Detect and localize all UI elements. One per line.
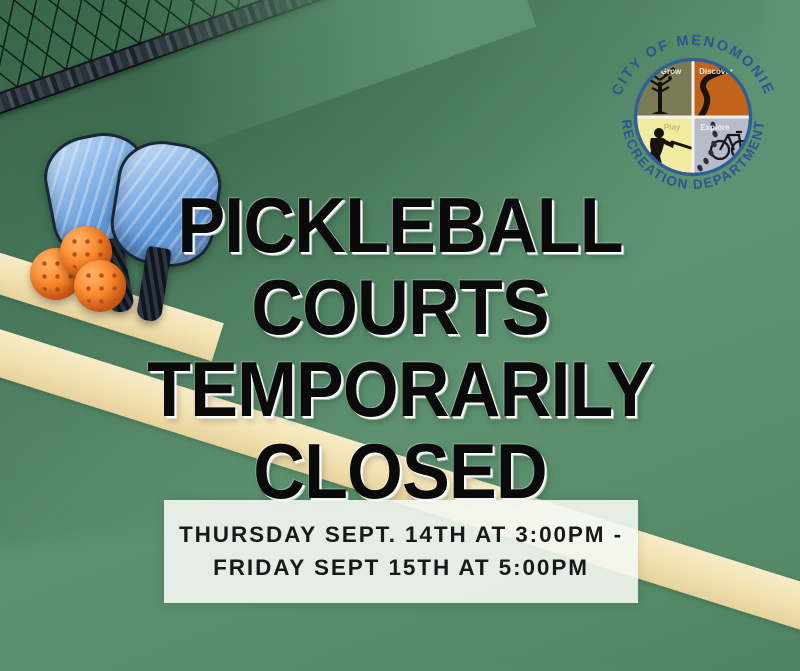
date-banner-line-1: THURSDAY SEPT. 14TH AT 3:00PM -: [179, 519, 623, 552]
logo-quadrants: [633, 57, 753, 177]
paddle-right: [105, 135, 227, 274]
logo-label-explore: Explore: [700, 123, 730, 132]
pickleball-gear-group: [26, 130, 286, 315]
pickleball-ball-3: [74, 260, 126, 312]
date-banner: THURSDAY SEPT. 14TH AT 3:00PM - FRIDAY S…: [164, 500, 638, 603]
date-banner-line-2: FRIDAY SEPT 15TH AT 5:00PM: [213, 552, 589, 585]
city-recreation-logo: Grow Discover Play Explore CITY OF MENOM…: [600, 22, 786, 208]
pickleball-closure-poster: Grow Discover Play Explore CITY OF MENOM…: [0, 0, 800, 671]
logo-label-play: Play: [664, 123, 681, 132]
